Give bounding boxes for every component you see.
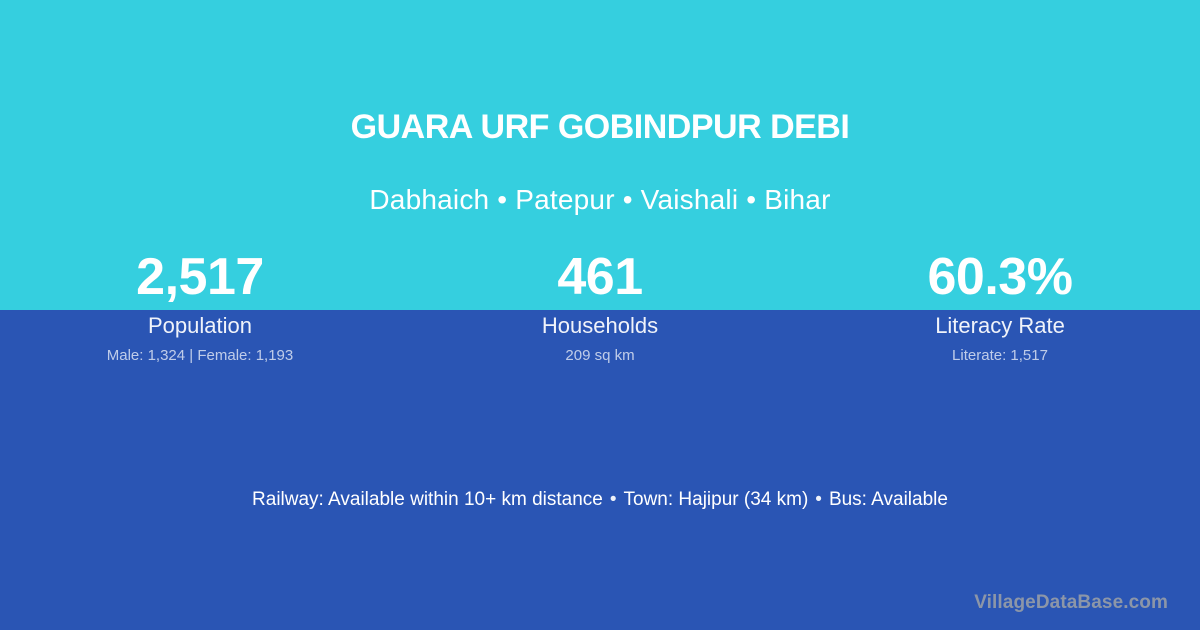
stat-households: 461 Households 209 sq km xyxy=(400,246,800,365)
nearest-town-info: Town: Hajipur (34 km) xyxy=(624,489,809,510)
stat-label: Population xyxy=(0,312,400,339)
bullet-separator-icon: • xyxy=(603,489,624,510)
stat-value: 461 xyxy=(400,246,800,308)
site-brand-watermark: VillageDataBase.com xyxy=(974,590,1168,615)
page-title: GUARA URF GOBINDPUR DEBI xyxy=(0,78,1200,176)
stat-detail: Literate: 1,517 xyxy=(800,346,1200,365)
stat-detail: 209 sq km xyxy=(400,346,800,365)
stat-detail: Male: 1,324 | Female: 1,193 xyxy=(0,346,400,365)
stat-population: 2,517 Population Male: 1,324 | Female: 1… xyxy=(0,246,400,365)
stats-row: 2,517 Population Male: 1,324 | Female: 1… xyxy=(0,246,1200,365)
bus-info: Bus: Available xyxy=(829,489,948,510)
stat-literacy-rate: 60.3% Literacy Rate Literate: 1,517 xyxy=(800,246,1200,365)
village-info-card: GUARA URF GOBINDPUR DEBI Dabhaich • Pate… xyxy=(0,0,1200,630)
infrastructure-line: Railway: Available within 10+ km distanc… xyxy=(0,487,1200,512)
location-breadcrumb: Dabhaich • Patepur • Vaishali • Bihar xyxy=(0,183,1200,217)
stat-label: Households xyxy=(400,312,800,339)
stat-label: Literacy Rate xyxy=(800,312,1200,339)
card-content: GUARA URF GOBINDPUR DEBI Dabhaich • Pate… xyxy=(0,0,1200,630)
bullet-separator-icon: • xyxy=(808,489,829,510)
railway-info: Railway: Available within 10+ km distanc… xyxy=(252,489,603,510)
stat-value: 60.3% xyxy=(800,246,1200,308)
stat-value: 2,517 xyxy=(0,246,400,308)
